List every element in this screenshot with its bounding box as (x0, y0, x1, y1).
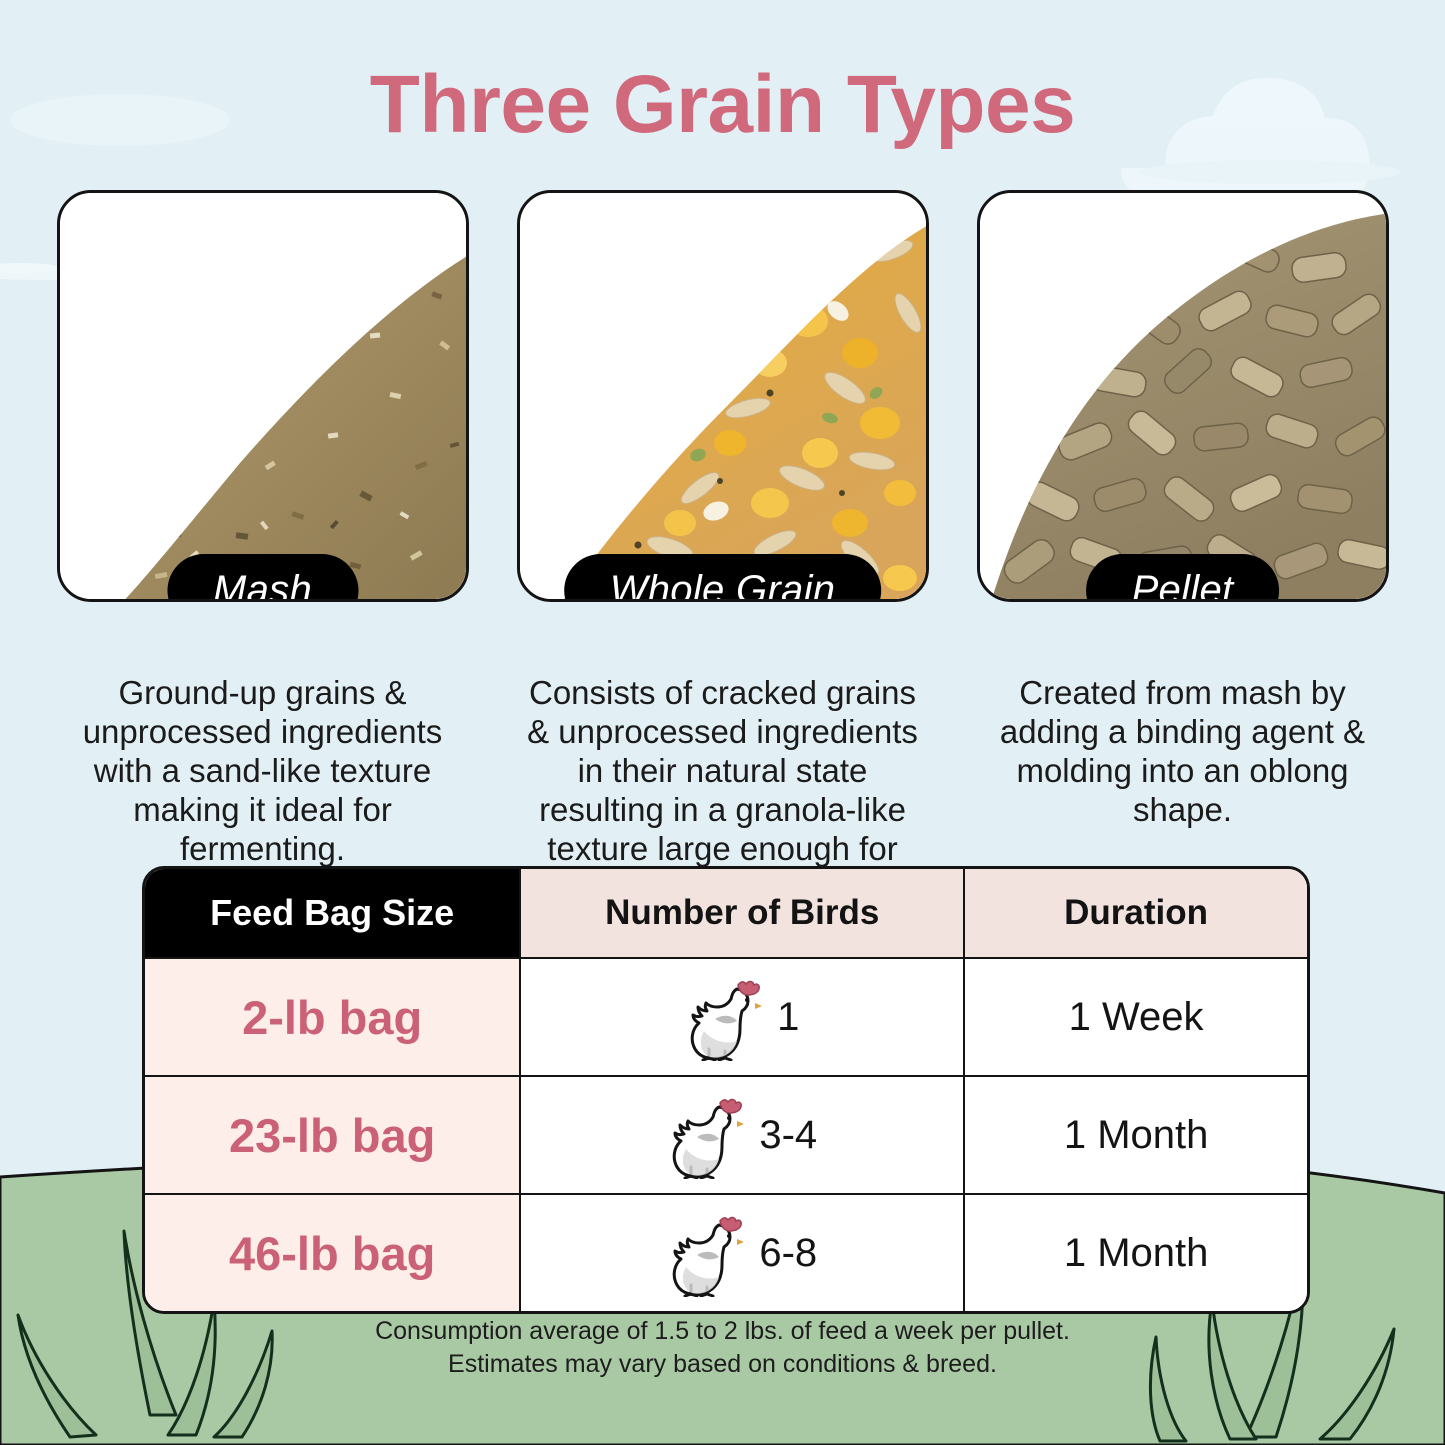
footnote-line-2: Estimates may vary based on conditions &… (0, 1348, 1445, 1381)
whole-grain-feed-photo (520, 193, 926, 599)
footnote: Consumption average of 1.5 to 2 lbs. of … (0, 1315, 1445, 1381)
mash-feed-photo (60, 193, 466, 599)
chicken-icon (685, 973, 763, 1061)
cell-duration: 1 Week (964, 958, 1307, 1076)
table-row: 2-lb bag (145, 958, 1307, 1076)
cell-number-of-birds: 1 (520, 958, 964, 1076)
footnote-line-1: Consumption average of 1.5 to 2 lbs. of … (0, 1315, 1445, 1348)
birds-count: 1 (777, 995, 799, 1040)
cell-bag-size: 23-lb bag (145, 1076, 520, 1194)
chicken-icon (667, 1209, 745, 1297)
table-header-row: Feed Bag Size Number of Birds Duration (145, 869, 1307, 958)
chicken-icon (667, 1091, 745, 1179)
table-row: 23-lb bag (145, 1076, 1307, 1194)
grain-type-cards: Mash Ground-up grains & unprocessed ingr… (0, 190, 1445, 908)
cell-duration: 1 Month (964, 1194, 1307, 1311)
feed-bag-table: Feed Bag Size Number of Birds Duration 2… (142, 866, 1310, 1314)
column-header-duration: Duration (964, 869, 1307, 958)
infographic-canvas: Three Grain Types (0, 0, 1445, 1445)
cell-number-of-birds: 3-4 (520, 1076, 964, 1194)
column-header-feed-bag-size: Feed Bag Size (145, 869, 520, 958)
cell-number-of-birds: 6-8 (520, 1194, 964, 1311)
grain-card-pellet: Pellet Created from mash by adding a bin… (977, 190, 1389, 908)
grain-label-pellet: Pellet (1086, 554, 1280, 602)
column-header-number-of-birds: Number of Birds (520, 869, 964, 958)
cell-duration: 1 Month (964, 1076, 1307, 1194)
grain-description-mash: Ground-up grains & unprocessed ingredien… (57, 674, 469, 869)
grain-label-mash: Mash (167, 554, 358, 602)
page-title: Three Grain Types (0, 62, 1445, 148)
pellet-feed-photo (980, 193, 1386, 599)
grain-card-mash: Mash Ground-up grains & unprocessed ingr… (57, 190, 469, 908)
grain-label-whole-grain: Whole Grain (564, 554, 882, 602)
cell-bag-size: 46-lb bag (145, 1194, 520, 1311)
pellet-photo-frame: Pellet (977, 190, 1389, 602)
grain-card-whole-grain: Whole Grain Consists of cracked grains &… (517, 190, 929, 908)
grain-description-pellet: Created from mash by adding a binding ag… (977, 674, 1389, 830)
table-row: 46-lb bag (145, 1194, 1307, 1311)
cell-bag-size: 2-lb bag (145, 958, 520, 1076)
birds-count: 6-8 (759, 1231, 817, 1276)
birds-count: 3-4 (759, 1113, 817, 1158)
whole-grain-photo-frame: Whole Grain (517, 190, 929, 602)
mash-photo-frame: Mash (57, 190, 469, 602)
